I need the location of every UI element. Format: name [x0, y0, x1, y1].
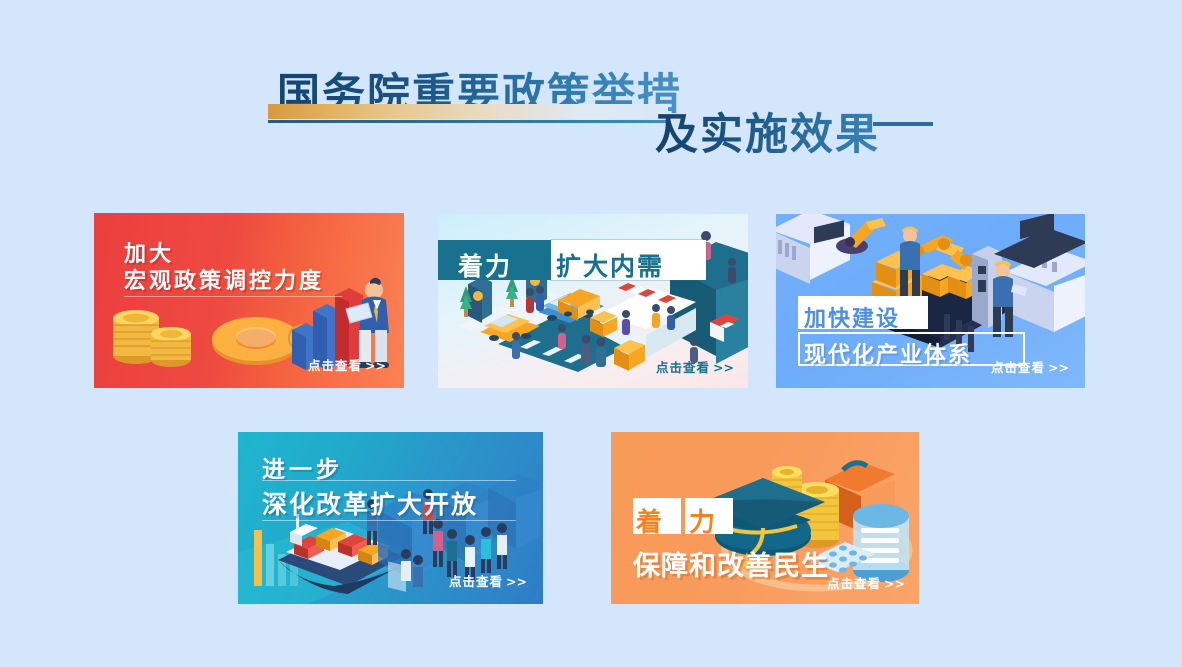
card-expand-demand[interactable]: 着力 扩大内需 点击查看>>	[438, 214, 748, 388]
card-3-title-line-1: 加快建设	[804, 301, 900, 333]
title-gold-bar	[268, 104, 668, 119]
card-1-cta-label: 点击查看	[308, 358, 362, 373]
card-reform-opening[interactable]: 进一步 深化改革扩大开放 点击查看>>	[238, 432, 543, 604]
card-3-cta-arrow-icon: >>	[1045, 360, 1069, 375]
card-4-divider-bottom	[262, 520, 516, 521]
card-2-title-line-2: 扩大内需	[556, 247, 664, 283]
card-livelihood[interactable]: 着 力 保障和改善民生 点击查看>>	[611, 432, 919, 604]
card-4-cta-label: 点击查看	[449, 574, 503, 589]
card-2-title-line-1: 着力	[458, 247, 512, 283]
card-4-cta-arrow-icon: >>	[503, 574, 527, 589]
card-modern-industry[interactable]: 加快建设 现代化产业体系 点击查看>>	[776, 214, 1085, 388]
card-1-cta[interactable]: 点击查看>>	[308, 355, 386, 374]
title-underline-rule	[268, 120, 668, 123]
page-header: 国务院重要政策举措 及实施效果	[0, 0, 1182, 175]
card-4-divider-top	[262, 480, 516, 481]
card-4-cta[interactable]: 点击查看>>	[449, 571, 527, 590]
card-4-title-line-2: 深化改革扩大开放	[262, 485, 478, 521]
title-trailing-dash	[873, 122, 933, 126]
card-5-title-line-2: 保障和改善民生	[633, 544, 829, 583]
card-3-title-line-2: 现代化产业体系	[804, 337, 972, 369]
card-2-cta-label: 点击查看	[656, 360, 710, 375]
card-2-cta[interactable]: 点击查看>>	[656, 357, 734, 376]
card-5-title-char-1: 着	[636, 502, 662, 539]
card-5-cta-arrow-icon: >>	[881, 576, 905, 591]
card-3-cta[interactable]: 点击查看>>	[991, 357, 1069, 376]
card-5-title-char-2: 力	[689, 502, 715, 539]
card-5-cta[interactable]: 点击查看>>	[827, 573, 905, 592]
page-title-line-2: 及实施效果	[655, 100, 880, 162]
card-1-cta-arrow-icon: >>	[362, 358, 386, 373]
card-2-cta-arrow-icon: >>	[710, 360, 734, 375]
card-3-cta-label: 点击查看	[991, 360, 1045, 375]
card-4-title-line-1: 进一步	[262, 450, 343, 484]
card-macro-policy[interactable]: ¥ 加大 宏观政策调控力度 点击查看>>	[94, 213, 404, 388]
card-1-divider	[124, 296, 342, 297]
card-5-cta-label: 点击查看	[827, 576, 881, 591]
card-1-title-line-2: 宏观政策调控力度	[124, 263, 324, 295]
